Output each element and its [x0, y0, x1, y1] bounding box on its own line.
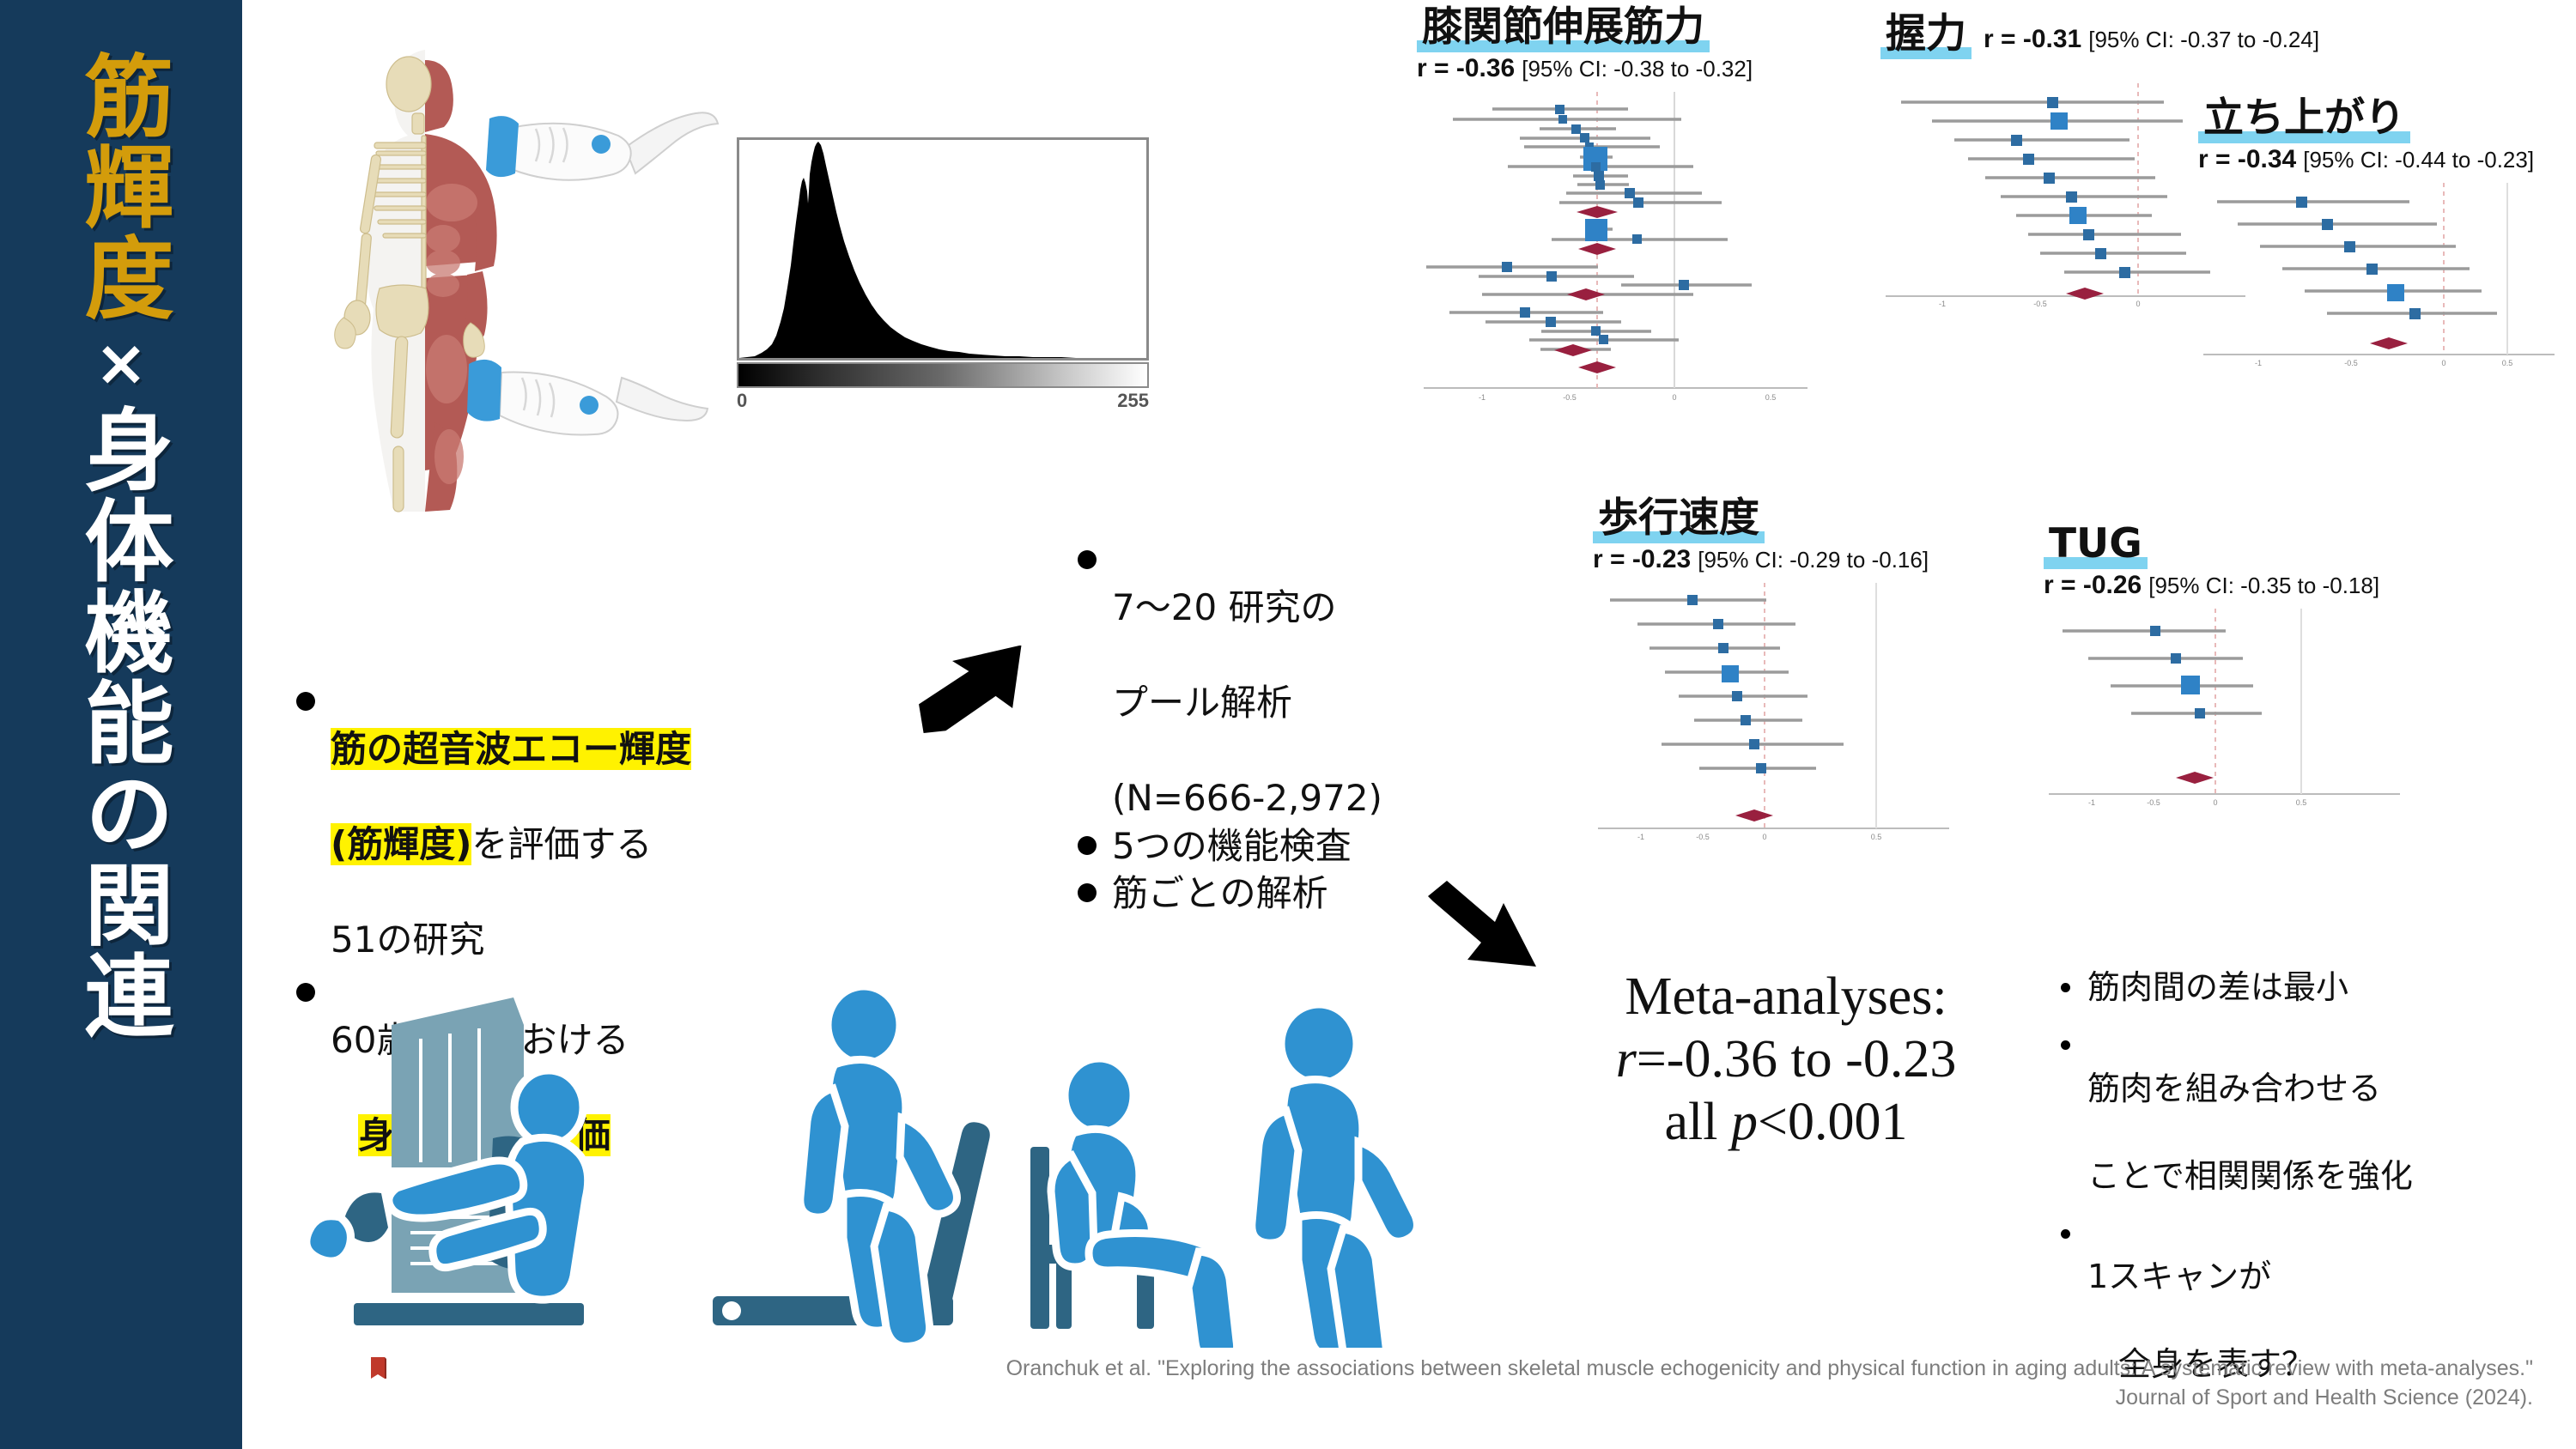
- svg-text:0: 0: [2136, 300, 2140, 306]
- histogram-frame: [737, 137, 1149, 361]
- title-times-symbol: ×: [89, 326, 153, 402]
- svg-text:-0.5: -0.5: [1696, 833, 1710, 840]
- bullet-dot-icon: [2061, 1040, 2070, 1050]
- forest-plot-gait: -1-0.5 00.5: [1593, 583, 1953, 845]
- svg-text:-1: -1: [1939, 300, 1946, 306]
- walking-person-icon: [1252, 1004, 1418, 1348]
- svg-text:-0.5: -0.5: [2147, 798, 2160, 806]
- list-item: 筋肉間の差は最小: [2061, 966, 2576, 1009]
- panel-title-row: 歩行速度: [1593, 496, 1953, 543]
- panel-r-value: r = -0.23: [1593, 545, 1691, 574]
- mid-bullet-1-line3: (N=666-2,972): [1112, 777, 1382, 819]
- list-item: 5つの機能検査: [1078, 822, 1490, 870]
- panel-title-knee-extension: 膝関節伸展筋力: [1417, 5, 1710, 52]
- panel-title-row: 握力 r = -0.31 [95% CI: -0.37 to -0.24]: [1880, 12, 2250, 59]
- svg-text:-1: -1: [1479, 393, 1485, 401]
- svg-text:0: 0: [2441, 359, 2445, 367]
- left-bullet-1-plain3: 51の研究: [331, 919, 484, 961]
- svg-text:0.5: 0.5: [2296, 798, 2307, 806]
- mid-bullet-3-line1: 筋ごとの解析: [1112, 870, 1328, 917]
- forest-plot-svg: -1-0.50: [1880, 83, 2250, 306]
- forest-plot-svg: -1-0.5 00.5: [2044, 609, 2404, 806]
- panel-title-row: TUG: [2044, 522, 2404, 569]
- left-bullet-1-plain2: を評価する: [471, 823, 652, 865]
- conclusion-3-line1: 1スキャンが: [2087, 1258, 2271, 1295]
- bullet-dot-icon: [2061, 1229, 2070, 1239]
- left-bullet-1-highlight2: (筋輝度): [331, 823, 471, 865]
- svg-text:0: 0: [1672, 393, 1676, 401]
- panel-title-grip-strength: 握力: [1880, 12, 1971, 59]
- svg-text:-0.5: -0.5: [1563, 393, 1577, 401]
- panel-stat-row: r = -0.34 [95% CI: -0.44 to -0.23]: [2198, 145, 2567, 174]
- forest-plot-tug: -1-0.5 00.5: [2044, 609, 2404, 810]
- physical-function-test-icons: [309, 987, 1563, 1348]
- forest-panel-grip-strength: 握力 r = -0.31 [95% CI: -0.37 to -0.24]: [1880, 12, 2250, 311]
- bullet-dot-icon: [1078, 883, 1097, 902]
- title-white-text: 身体機能の関連: [76, 403, 166, 1040]
- panel-ci-value: [95% CI: -0.35 to -0.18]: [2148, 573, 2379, 599]
- meta-r-symbol: r: [1616, 1030, 1637, 1088]
- conclusion-1-line1: 筋肉間の差は最小: [2087, 966, 2348, 1009]
- forest-plot-knee: -1-0.5 00.5: [1417, 92, 1812, 405]
- list-item: 7〜20 研究の プール解析 (N=666-2,972): [1078, 537, 1490, 822]
- panel-stat-row: r = -0.36 [95% CI: -0.38 to -0.32]: [1417, 54, 1812, 83]
- mid-bullet-1-line2: プール解析: [1112, 682, 1292, 724]
- list-item: 筋肉を組み合わせる ことで相関関係を強化: [2061, 1023, 2576, 1198]
- svg-text:0: 0: [2213, 798, 2217, 806]
- bullet-dot-icon: [1078, 550, 1097, 569]
- bullet-dot-icon: [2061, 983, 2070, 992]
- arrow-up-right-icon: [906, 646, 1035, 740]
- panel-stat-row: r = -0.26 [95% CI: -0.35 to -0.18]: [2044, 571, 2404, 600]
- svg-text:-1: -1: [2255, 359, 2262, 367]
- ultrasound-probe-icon-lower: [464, 343, 721, 464]
- panel-ci-value: [95% CI: -0.44 to -0.23]: [2303, 147, 2534, 173]
- citation-line-2: Journal of Sport and Health Science (202…: [369, 1384, 2533, 1413]
- panel-r-value: r = -0.26: [2044, 571, 2142, 600]
- bullet-dot-icon: [1078, 836, 1097, 855]
- histogram-min-label: 0: [737, 390, 747, 412]
- forest-plot-svg: -1-0.5 00.5: [2198, 183, 2559, 367]
- meta-r-range: r=-0.36 to -0.23: [1546, 1028, 2026, 1091]
- panel-r-value: r = -0.31: [1984, 25, 2081, 54]
- meta-r-range-value: =-0.36 to -0.23: [1637, 1030, 1956, 1088]
- book-icon: [369, 1356, 388, 1380]
- mid-bullet-2-line1: 5つの機能検査: [1112, 822, 1352, 870]
- forest-plot-sit-to-stand: -1-0.5 00.5: [2198, 183, 2567, 372]
- svg-text:0.5: 0.5: [1871, 833, 1882, 840]
- meta-analyses-summary: Meta-analyses: r=-0.36 to -0.23 all p<0.…: [1546, 966, 2026, 1154]
- citation-line-1: Oranchuk et al. "Exploring the associati…: [369, 1355, 2533, 1384]
- panel-title-sit-to-stand: 立ち上がり: [2198, 96, 2410, 143]
- forest-panel-knee-extension: 膝関節伸展筋力 r = -0.36 [95% CI: -0.38 to -0.3…: [1417, 5, 1812, 405]
- svg-text:0.5: 0.5: [1765, 393, 1777, 401]
- meta-p-threshold: <0.001: [1758, 1093, 1907, 1151]
- panel-r-value: r = -0.34: [2198, 145, 2296, 174]
- left-bullet-1-highlight1: 筋の超音波エコー輝度: [331, 728, 691, 770]
- panel-ci-value: [95% CI: -0.29 to -0.16]: [1698, 547, 1929, 573]
- svg-text:-0.5: -0.5: [2344, 359, 2358, 367]
- histogram-curve: [739, 140, 1146, 358]
- panel-stat-row: r = -0.23 [95% CI: -0.29 to -0.16]: [1593, 545, 1953, 574]
- panel-ci-value: [95% CI: -0.37 to -0.24]: [2088, 27, 2319, 53]
- citation-block: Oranchuk et al. "Exploring the associati…: [369, 1355, 2533, 1413]
- forest-plot-svg: -1-0.5 00.5: [1417, 92, 1812, 401]
- arrow-down-right-icon: [1421, 877, 1550, 980]
- title-sidebar: 筋輝度 × 身体機能の関連: [0, 0, 242, 1449]
- forest-panel-sit-to-stand: 立ち上がり r = -0.34 [95% CI: -0.44 to -0.23]: [2198, 96, 2567, 372]
- bullet-dot-icon: [296, 692, 315, 711]
- panel-r-value: r = -0.36: [1417, 54, 1515, 83]
- list-item: 筋の超音波エコー輝度 (筋輝度)を評価する 51の研究: [296, 678, 914, 964]
- forest-plot-svg: -1-0.5 00.5: [1593, 583, 1953, 840]
- meta-p-symbol: p: [1731, 1093, 1758, 1151]
- panel-ci-value: [95% CI: -0.38 to -0.32]: [1522, 56, 1753, 82]
- svg-text:-0.5: -0.5: [2033, 300, 2047, 306]
- conclusion-bullet-list: 筋肉間の差は最小 筋肉を組み合わせる ことで相関関係を強化 1スキャンが 全身を…: [2061, 966, 2576, 1386]
- panel-title-row: 膝関節伸展筋力: [1417, 5, 1812, 52]
- meta-p-value: all p<0.001: [1546, 1091, 2026, 1154]
- middle-bullet-list: 7〜20 研究の プール解析 (N=666-2,972) 5つの機能検査 筋ごと…: [1078, 537, 1490, 918]
- grayscale-gradient-bar: [737, 362, 1149, 388]
- forest-panel-gait-speed: 歩行速度 r = -0.23 [95% CI: -0.29 to -0.16]: [1593, 496, 1953, 845]
- forest-plot-grip: -1-0.50: [1880, 83, 2250, 311]
- mid-bullet-1-line1: 7〜20 研究の: [1112, 586, 1337, 628]
- meta-p-prefix: all: [1665, 1093, 1731, 1151]
- echo-intensity-histogram: 0 255: [737, 137, 1149, 412]
- histogram-max-label: 255: [1117, 390, 1149, 412]
- svg-text:-1: -1: [2088, 798, 2095, 806]
- forest-panel-tug: TUG r = -0.26 [95% CI: -0.35 to -0.18]: [2044, 522, 2404, 810]
- svg-text:-1: -1: [1637, 833, 1644, 840]
- meta-heading: Meta-analyses:: [1546, 966, 2026, 1028]
- title-gold-text: 筋輝度: [76, 50, 166, 323]
- conclusion-2-line1: 筋肉を組み合わせる: [2087, 1070, 2381, 1107]
- conclusion-2-line2: ことで相関関係を強化: [2087, 1157, 2413, 1195]
- ultrasound-probe-icon-upper: [481, 103, 721, 215]
- svg-text:0.5: 0.5: [2502, 359, 2513, 367]
- panel-title-tug: TUG: [2044, 522, 2148, 569]
- vertical-title: 筋輝度 × 身体機能の関連: [0, 50, 242, 1423]
- svg-text:0: 0: [1762, 833, 1766, 840]
- panel-title-row: 立ち上がり: [2198, 96, 2567, 143]
- panel-title-gait-speed: 歩行速度: [1593, 496, 1765, 543]
